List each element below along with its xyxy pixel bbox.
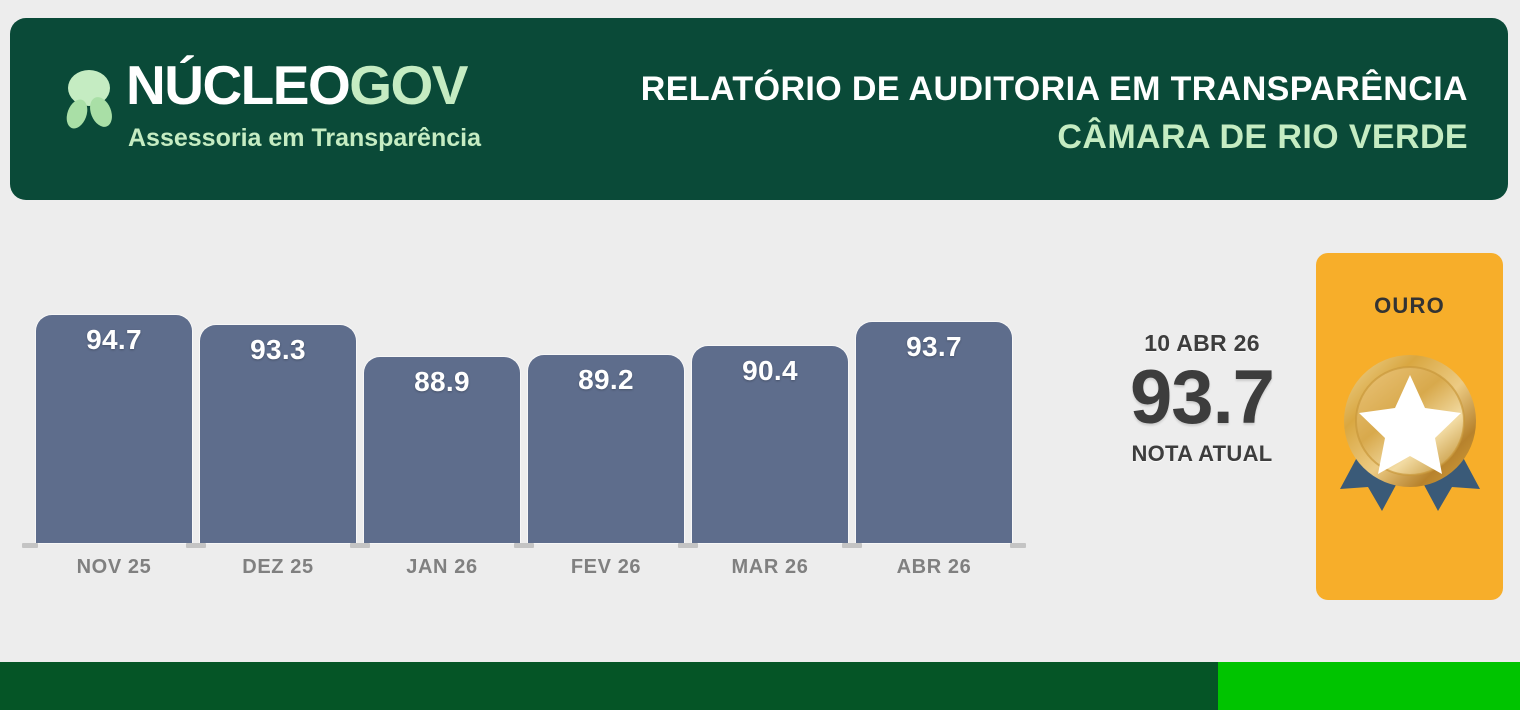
chart-month-labels-row: NOV 25DEZ 25JAN 26FEV 26MAR 26ABR 26 <box>36 556 1036 579</box>
chart-bar-value: 89.2 <box>578 364 634 396</box>
chart-bar-slot: 89.2 <box>528 248 684 543</box>
chart-axis-tick <box>514 543 530 548</box>
chart-bar-slot: 90.4 <box>692 248 848 543</box>
chart-bar[interactable]: 93.3 <box>200 325 356 543</box>
chart-bar-slot: 93.3 <box>200 248 356 543</box>
chart-bar-value: 90.4 <box>742 355 798 387</box>
score-caption: NOTA ATUAL <box>1124 441 1280 467</box>
gold-medal-star-icon <box>1326 337 1494 517</box>
chart-bar[interactable]: 94.7 <box>36 315 192 543</box>
report-title-group: RELATÓRIO DE AUDITORIA EM TRANSPARÊNCIA … <box>641 70 1468 156</box>
score-date: 10 ABR 26 <box>1124 330 1280 357</box>
chart-bar-value: 93.3 <box>250 334 306 366</box>
chart-month-label: ABR 26 <box>856 556 1012 579</box>
chart-bar-slot: 93.7 <box>856 248 1012 543</box>
brand-logo-block: NÚCLEOGOV Assessoria em Transparência <box>48 62 518 172</box>
page-title: RELATÓRIO DE AUDITORIA EM TRANSPARÊNCIA <box>641 70 1468 108</box>
footer-dark-segment <box>0 662 1218 710</box>
chart-bar-slot: 94.7 <box>36 248 192 543</box>
chart-bar[interactable]: 88.9 <box>364 357 520 543</box>
chart-bar-slot: 88.9 <box>364 248 520 543</box>
chart-bar[interactable]: 89.2 <box>528 355 684 543</box>
brand-wordmark: NÚCLEOGOV <box>126 58 467 113</box>
chart-month-label: MAR 26 <box>692 556 848 579</box>
chart-bars-row: 94.793.388.989.290.493.7 <box>36 248 1036 543</box>
report-header: NÚCLEOGOV Assessoria em Transparência RE… <box>10 18 1508 200</box>
chart-axis-tick <box>842 543 858 548</box>
brand-tagline: Assessoria em Transparência <box>128 124 481 153</box>
medal-tier-label: OURO <box>1316 293 1503 319</box>
chart-axis-tick <box>1010 543 1026 548</box>
chart-bar-value: 88.9 <box>414 366 470 398</box>
medal-tier-card: OURO <box>1316 253 1503 600</box>
chart-axis-tick <box>350 543 366 548</box>
brand-name-primary: NÚCLEO <box>126 54 349 116</box>
chart-bar[interactable]: 90.4 <box>692 346 848 543</box>
chart-axis-tick <box>678 543 694 548</box>
brand-name-secondary: GOV <box>349 54 467 116</box>
score-value: 93.7 <box>1124 359 1280 437</box>
chart-bar[interactable]: 93.7 <box>856 322 1012 543</box>
footer-bright-segment <box>1218 662 1520 710</box>
chart-bar-value: 93.7 <box>906 331 962 363</box>
chart-axis-tick <box>22 543 38 548</box>
leaf-plant-icon <box>56 66 122 132</box>
current-score-panel: 10 ABR 26 93.7 NOTA ATUAL <box>1124 330 1280 467</box>
score-history-bar-chart: 94.793.388.989.290.493.7 NOV 25DEZ 25JAN… <box>36 248 1036 593</box>
chart-baseline <box>36 543 1036 546</box>
chart-month-label: JAN 26 <box>364 556 520 579</box>
page-subtitle: CÂMARA DE RIO VERDE <box>641 118 1468 156</box>
footer-bar <box>0 662 1520 710</box>
chart-month-label: FEV 26 <box>528 556 684 579</box>
chart-month-label: NOV 25 <box>36 556 192 579</box>
chart-axis-tick <box>186 543 202 548</box>
chart-bar-value: 94.7 <box>86 324 142 356</box>
chart-month-label: DEZ 25 <box>200 556 356 579</box>
